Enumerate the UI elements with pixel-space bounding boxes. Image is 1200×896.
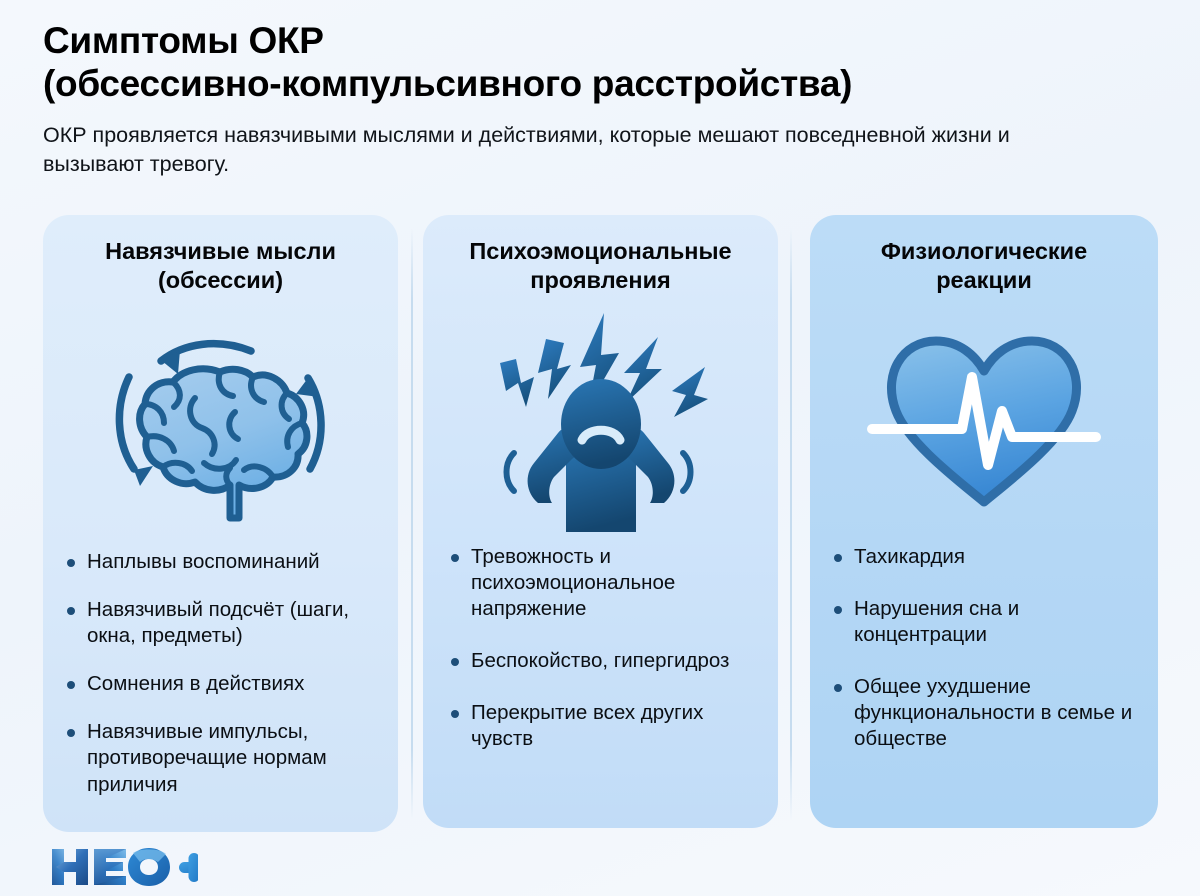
list-item: Навязчивый подсчёт (шаги, окна, предметы… (67, 597, 380, 649)
page-subtitle: ОКР проявляется навязчивыми мыслями и де… (43, 121, 1073, 179)
card-obsessions-bullets: Наплывы воспоминаний Навязчивый подсчёт … (43, 549, 398, 797)
page-title-line-1: Симптомы ОКР (43, 20, 324, 61)
list-item: Тревожность и психоэмоциональное напряже… (451, 544, 760, 622)
card-physiological[interactable]: Физиологические реакции Тахикардия Наруш… (810, 215, 1158, 828)
card-psychoemotional-title: Психоэмоциональные проявления (423, 215, 778, 294)
brain-cycle-icon (43, 294, 398, 549)
card-divider-2 (790, 228, 792, 820)
card-obsessions[interactable]: Навязчивые мысли (обсессии) (43, 215, 398, 832)
page-title: Симптомы ОКР (обсессивно-компульсивного … (43, 20, 1163, 105)
header: Симптомы ОКР (обсессивно-компульсивного … (43, 20, 1163, 179)
heart-pulse-icon (810, 294, 1158, 544)
list-item: Нарушения сна и концентрации (834, 596, 1140, 648)
list-item: Тахикардия (834, 544, 1140, 570)
page-title-line-2: (обсессивно-компульсивного расстройства) (43, 63, 1163, 106)
card-physiological-bullets: Тахикардия Нарушения сна и концентрации … (810, 544, 1158, 752)
card-divider-1 (411, 228, 413, 820)
list-item: Навязчивые импульсы, противоречащие норм… (67, 719, 380, 797)
neo-plus-logo[interactable] (48, 845, 198, 889)
stressed-person-lightning-icon (423, 294, 778, 544)
card-obsessions-title: Навязчивые мысли (обсессии) (43, 215, 398, 294)
symptom-cards-row: Навязчивые мысли (обсессии) (0, 215, 1200, 835)
list-item: Общее ухудшение функциональности в семье… (834, 674, 1140, 752)
card-psychoemotional[interactable]: Психоэмоциональные проявления (423, 215, 778, 828)
list-item: Беспокойство, гипергидроз (451, 648, 760, 674)
card-physiological-title: Физиологические реакции (810, 215, 1158, 294)
card-psychoemotional-bullets: Тревожность и психоэмоциональное напряже… (423, 544, 778, 752)
list-item: Сомнения в действиях (67, 671, 380, 697)
list-item: Перекрытие всех других чувств (451, 700, 760, 752)
list-item: Наплывы воспоминаний (67, 549, 380, 575)
